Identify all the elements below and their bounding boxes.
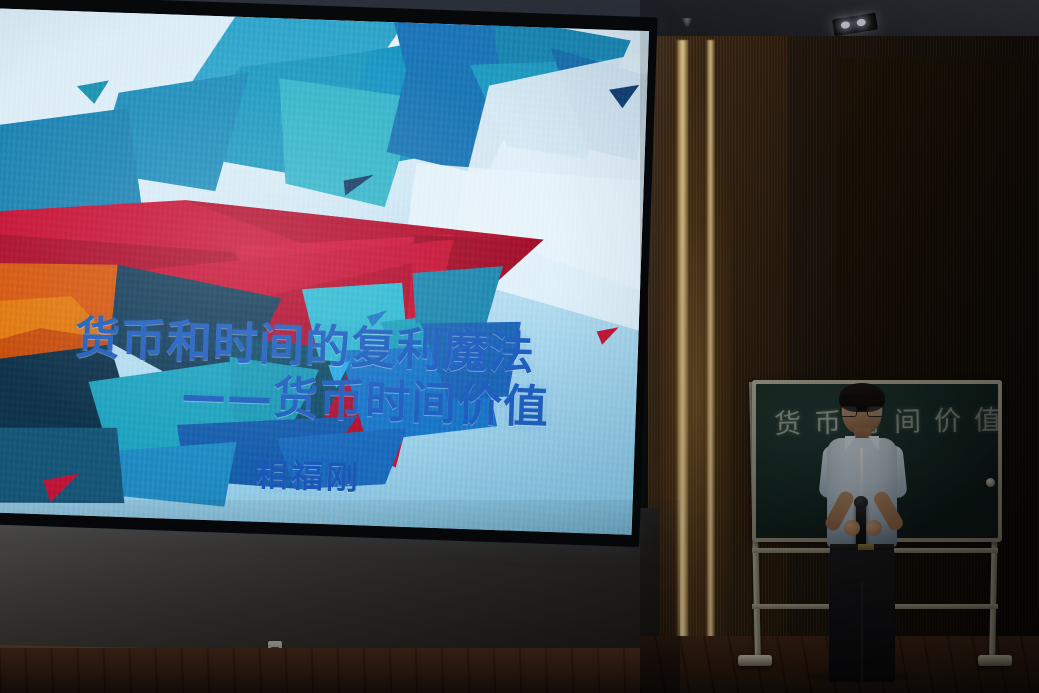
blackboard-knob[interactable] <box>986 478 995 487</box>
presenter-hand-left <box>844 520 860 536</box>
wall-light-strip <box>676 40 689 685</box>
blackboard-caster <box>978 655 1012 666</box>
lecture-hall-scene: 货币和时间的复利魔法 ——货币时间价值 相福刚 货币时间价值 <box>0 0 1039 693</box>
presenter <box>806 386 918 686</box>
wood-panel-wall-near <box>648 36 788 693</box>
presenter-leg-split <box>861 582 863 682</box>
wall-light-strip <box>706 40 715 685</box>
blackboard-caster <box>738 655 772 666</box>
slide-title-block: 货币和时间的复利魔法 ——货币时间价值 相福刚 <box>0 308 639 509</box>
screen-surface: 货币和时间的复利魔法 ——货币时间价值 相福刚 <box>0 8 649 535</box>
glasses-icon <box>840 406 884 417</box>
projection-screen[interactable]: 货币和时间的复利魔法 ——货币时间价值 相福刚 <box>0 0 658 547</box>
presenter-hand-right <box>866 520 882 536</box>
